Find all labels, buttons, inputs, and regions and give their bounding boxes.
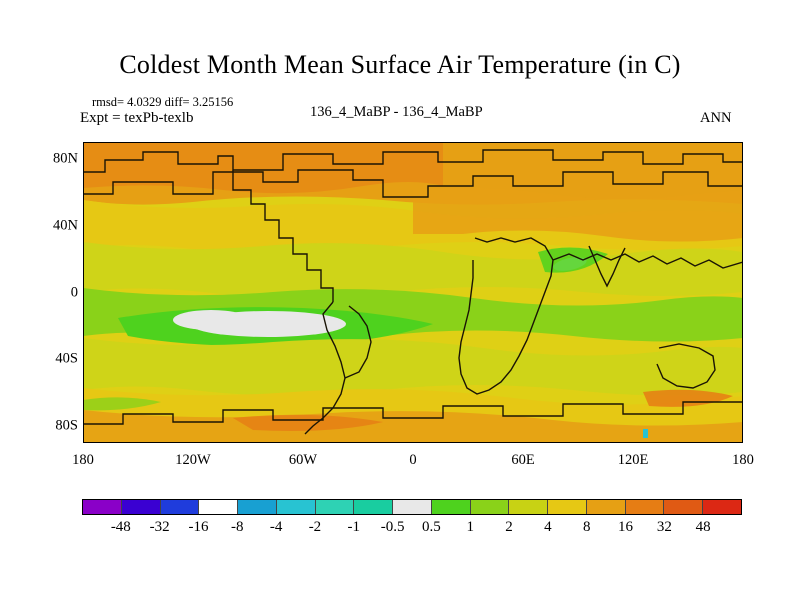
colorbar-tick-label: -16 [188, 519, 208, 536]
colorbar-cell-7[interactable] [354, 500, 393, 514]
colorbar-cell-8[interactable] [393, 500, 432, 514]
colorbar-tick-label: 1 [466, 519, 474, 536]
colorbar-cell-4[interactable] [238, 500, 277, 514]
x-axis-tick [0, 203, 1, 212]
colorbar-tick-label: 48 [696, 519, 711, 536]
x-axis-label: 120E [618, 452, 649, 469]
x-axis-label: 0 [409, 452, 416, 469]
x-axis-tick [0, 125, 1, 134]
rmsd-stats-label: rmsd= 4.0329 diff= 3.25156 [92, 95, 233, 110]
x-axis-tick [0, 515, 1, 524]
plot-frame [83, 142, 743, 443]
experiment-label: Expt = texPb-texlb [80, 110, 193, 127]
x-axis-label: 60E [511, 452, 534, 469]
colorbar-tick-label: 2 [505, 519, 513, 536]
colorbar-tick-label: -48 [111, 519, 131, 536]
x-axis-tick [0, 38, 1, 47]
y-axis-label: 80N [53, 150, 78, 167]
colorbar-cell-15[interactable] [664, 500, 703, 514]
x-axis-tick [0, 506, 1, 515]
figure-canvas: Coldest Month Mean Surface Air Temperatu… [0, 0, 800, 600]
x-axis-label: 180 [732, 452, 754, 469]
y-axis-label: 80S [55, 418, 78, 435]
colorbar-cell-3[interactable] [199, 500, 238, 514]
x-axis-tick [0, 272, 1, 281]
colorbar-cell-16[interactable] [703, 500, 741, 514]
map-plot-area [83, 142, 743, 443]
x-axis-tick [0, 194, 1, 203]
y-axis-label: 0 [71, 284, 78, 301]
colorbar-cell-6[interactable] [316, 500, 355, 514]
x-axis-tick [0, 359, 1, 368]
y-axis-label: 40S [55, 351, 78, 368]
y-axis-label: 40N [53, 217, 78, 234]
colorbar-tick-label: -0.5 [381, 519, 405, 536]
season-label: ANN [700, 110, 731, 127]
colorbar-cell-11[interactable] [509, 500, 548, 514]
colorbar-tick-label: 4 [544, 519, 552, 536]
colorbar-tick-label: -4 [270, 519, 283, 536]
x-axis-tick [0, 437, 1, 446]
colorbar-cell-0[interactable] [83, 500, 122, 514]
x-axis-tick [0, 116, 1, 125]
colorbar-cell-9[interactable] [432, 500, 471, 514]
x-axis-label: 180 [72, 452, 94, 469]
x-axis-label: 120W [175, 452, 210, 469]
page-title: Coldest Month Mean Surface Air Temperatu… [0, 50, 800, 80]
colorbar-cell-14[interactable] [626, 500, 665, 514]
x-axis-tick [0, 350, 1, 359]
colorbar-tick-label: 8 [583, 519, 591, 536]
colorbar-cell-12[interactable] [548, 500, 587, 514]
case-comparison-label: 136_4_MaBP - 136_4_MaBP [310, 104, 483, 121]
colorbar-tick-label: -8 [231, 519, 244, 536]
colorbar-tick-label: -2 [309, 519, 322, 536]
x-axis-tick [0, 428, 1, 437]
x-axis-tick [0, 281, 1, 290]
colorbar-tick-label: 16 [618, 519, 633, 536]
colorbar-tick-label: -32 [150, 519, 170, 536]
colorbar-cell-1[interactable] [122, 500, 161, 514]
colorbar-tick-label: -1 [348, 519, 361, 536]
colorbar-cell-5[interactable] [277, 500, 316, 514]
colorbar-tick-label: 0.5 [422, 519, 441, 536]
colorbar-cell-13[interactable] [587, 500, 626, 514]
colorbar[interactable] [82, 499, 742, 515]
colorbar-cell-10[interactable] [471, 500, 510, 514]
colorbar-tick-label: 32 [657, 519, 672, 536]
x-axis-label: 60W [289, 452, 317, 469]
colorbar-cell-2[interactable] [161, 500, 200, 514]
